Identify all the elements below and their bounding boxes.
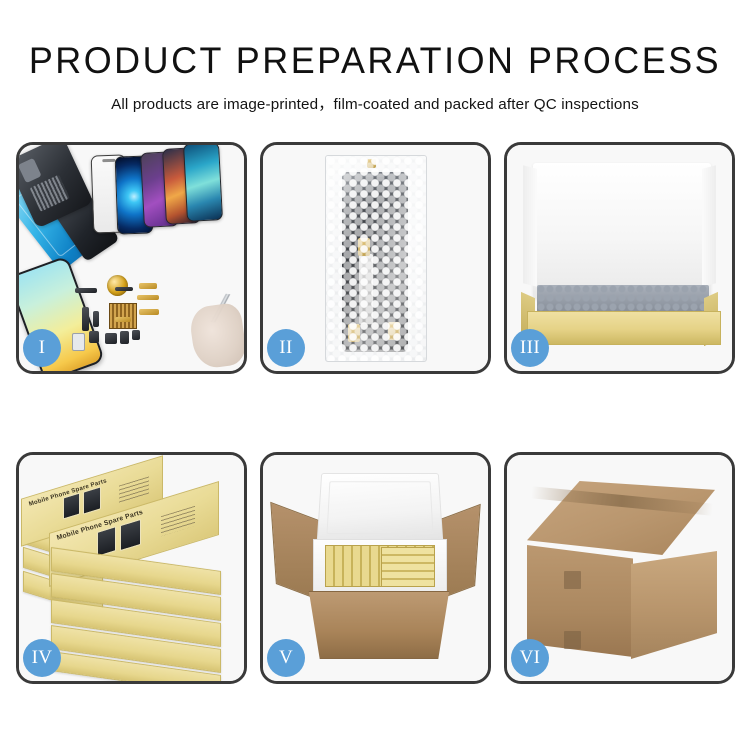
- bubble-wrap-bag-icon: [325, 155, 427, 362]
- flex-cable-icon: [139, 283, 157, 289]
- spare-part-icon: [105, 333, 117, 344]
- step-badge-3: III: [511, 329, 549, 367]
- flex-cable-icon: [137, 295, 159, 300]
- process-step-panel-1[interactable]: I: [16, 142, 247, 374]
- flex-cable-icon: [115, 317, 131, 322]
- wireless-coil-icon: [107, 275, 128, 296]
- process-step-panel-3[interactable]: III: [504, 142, 735, 374]
- phone-display-teal-icon: [183, 142, 223, 222]
- kraft-box-front-icon: [527, 311, 721, 345]
- page-subtitle: All products are image-printed，film-coat…: [0, 81, 750, 114]
- page-title: PRODUCT PREPARATION PROCESS: [11, 0, 739, 81]
- carton-tab-icon: [564, 571, 581, 589]
- foam-lip-left-icon: [523, 165, 537, 286]
- plastic-sheen-icon: [326, 156, 426, 361]
- step-badge-5: V: [267, 639, 305, 677]
- carton-tab-icon: [564, 631, 581, 649]
- cardboard-carton-icon: [301, 591, 457, 659]
- spare-part-icon: [132, 330, 140, 340]
- spare-part-icon: [93, 311, 99, 327]
- spare-part-icon: [115, 287, 133, 291]
- flex-cable-icon: [139, 309, 159, 315]
- carton-side-face-icon: [631, 551, 717, 659]
- spare-part-icon: [120, 331, 129, 344]
- packed-boxes-icon: [381, 547, 435, 587]
- process-step-panel-5[interactable]: V: [260, 452, 491, 684]
- step-badge-6: VI: [511, 639, 549, 677]
- hand-icon: [188, 302, 247, 371]
- white-foam-sheet-icon: [533, 163, 711, 299]
- sim-tray-icon: [72, 333, 85, 351]
- step-badge-1: I: [23, 329, 61, 367]
- spare-part-icon: [82, 307, 89, 331]
- process-step-grid: I II III: [16, 142, 736, 684]
- process-step-panel-2[interactable]: II: [260, 142, 491, 374]
- foam-lip-right-icon: [702, 165, 716, 286]
- page-header: PRODUCT PREPARATION PROCESS All products…: [0, 0, 750, 114]
- step-badge-4: IV: [23, 639, 61, 677]
- process-step-panel-4[interactable]: Mobile Phone Spare Parts Mobile Phone Sp…: [16, 452, 247, 684]
- spare-part-icon: [75, 288, 97, 293]
- spare-part-icon: [89, 331, 99, 343]
- process-step-panel-6[interactable]: VI: [504, 452, 735, 684]
- chip-grid-icon: [109, 303, 137, 329]
- styrofoam-lid-icon: [317, 473, 444, 544]
- step-badge-2: II: [267, 329, 305, 367]
